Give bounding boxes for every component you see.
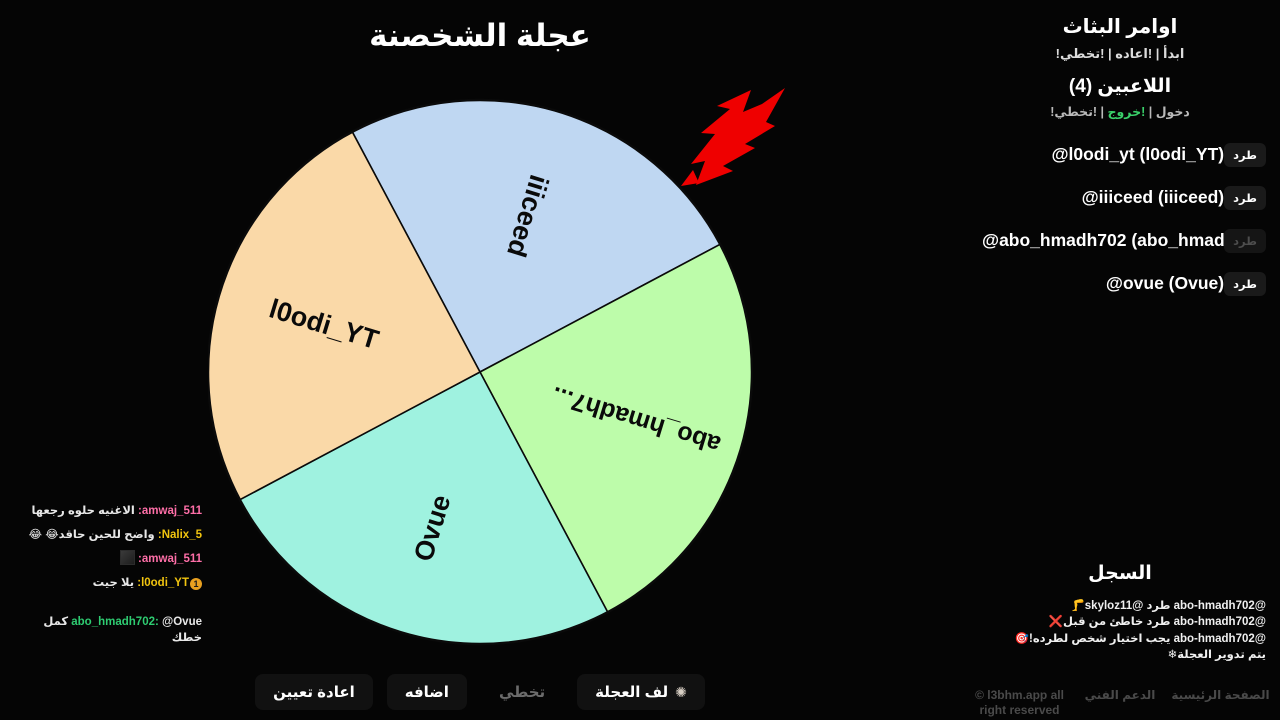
kick-player-button[interactable]: طرد (1224, 272, 1266, 296)
log-entry-icon: ❄ (1168, 647, 1178, 663)
player-row: طرد@abo_hmadh702 (abo_hmadh...) (974, 219, 1266, 262)
chat-message: Nalix_5: واضح للحين حاقد😂 😂 (12, 527, 202, 544)
kick-player-button[interactable]: طرد (1224, 229, 1266, 253)
chat-message: amwaj_511: الاغنيه حلوه رجعها (12, 503, 202, 520)
red-zigzag-arrow-icon (663, 82, 793, 192)
chat-message: abo_hmadh702: @Ovue كمل خطك (12, 614, 202, 647)
footer-support-link[interactable]: الدعم الفني (1071, 688, 1170, 703)
app-root: عجلة الشخصنة iiiceedabo_hmadh7...Ovuel0o… (0, 0, 1280, 720)
chat-message: amwaj_511: (12, 550, 202, 568)
add-button-label: اضافه (405, 683, 449, 701)
player-commands-list: !دخول | !خروج | !تخطي (974, 104, 1266, 119)
add-button[interactable]: اضافه (387, 674, 467, 710)
spin-button[interactable]: ✺لف العجلة (577, 674, 705, 710)
broadcaster-commands-title: اوامر البثاث (974, 14, 1266, 39)
chat-text: الاغنيه حلوه رجعها (31, 505, 134, 517)
chat-badge-icon: 1 (190, 578, 202, 590)
player-name: @iiiceed (iiiceed) (974, 187, 1224, 208)
gear-icon: ✺ (675, 684, 687, 701)
chat-username[interactable]: amwaj_511: (135, 553, 202, 565)
broadcaster-commands-list: !ابدأ | !اعاده | !تخطي (974, 46, 1266, 62)
log-entry-text: @abo-hmadh702 طرد خاطئ من قبل (1063, 616, 1266, 628)
player-row: طرد@iiiceed (iiiceed) (974, 176, 1266, 219)
footer: الصفحة الرئيسية الدعم الفني © l3bhm.app … (970, 688, 1270, 718)
log-entry: @abo-hmadh702 يجب اختيار شخص لطرده!🎯 (974, 631, 1266, 647)
player-name: @ovue (Ovue) (974, 273, 1224, 294)
reset-button-label: اعادة تعيين (273, 683, 355, 701)
wheel-stage[interactable]: iiiceedabo_hmadh7...Ovuel0odi_YT (208, 90, 753, 655)
log-entry-text: @abo-hmadh702 يجب اختيار شخص لطرده! (1029, 633, 1266, 645)
player-list: طرد@l0odi_yt (l0odi_YT)طرد@iiiceed (iiic… (974, 133, 1266, 305)
log-entry-text: يتم تدوير العجلة (1177, 649, 1266, 661)
leave-command: !خروج (1108, 105, 1146, 119)
log-entry: يتم تدوير العجلة❄ (974, 647, 1266, 663)
player-row: طرد@l0odi_yt (l0odi_YT) (974, 133, 1266, 176)
players-count-title: اللاعبين (4) (974, 75, 1266, 98)
log-entry: @abo-hmadh702 طرد خاطئ من قبل❌ (974, 614, 1266, 630)
log-entry-icon: 🎯 (1015, 631, 1029, 647)
skip-button-label: تخطي (499, 683, 545, 701)
player-name: @abo_hmadh702 (abo_hmadh...) (974, 230, 1224, 251)
chat-text: يلا جيت (93, 577, 134, 589)
player-row: طرد@ovue (Ovue) (974, 262, 1266, 305)
chat-text: واضح للحين حاقد😂 😂 (29, 529, 155, 541)
skip-button[interactable]: تخطي (481, 674, 563, 710)
kick-player-button[interactable]: طرد (1224, 143, 1266, 167)
log-entry: @abo-hmadh702 طرد @skyloz11🦵 (974, 598, 1266, 614)
right-panel: اوامر البثاث !ابدأ | !اعاده | !تخطي اللا… (960, 0, 1280, 720)
footer-copyright: © l3bhm.app all right reserved (970, 688, 1069, 718)
log-entry-icon: ❌ (1049, 614, 1063, 630)
chat-image-thumbnail (120, 550, 135, 565)
chat-username[interactable]: amwaj_511: (135, 505, 202, 517)
player-name: @l0odi_yt (l0odi_YT) (974, 144, 1224, 165)
log-list: @abo-hmadh702 طرد @skyloz11🦵@abo-hmadh70… (974, 598, 1266, 664)
chat-username[interactable]: Nalix_5: (155, 529, 202, 541)
page-title: عجلة الشخصنة (0, 18, 960, 54)
log-entry-icon: 🦵 (1070, 598, 1084, 614)
footer-home-link[interactable]: الصفحة الرئيسية (1171, 688, 1270, 703)
spin-button-label: لف العجلة (595, 683, 668, 701)
skip-command: | !تخطي (1054, 105, 1104, 119)
chat-overlay: amwaj_511: الاغنيه حلوه رجعهاNalix_5: وا… (12, 503, 202, 654)
log-title: السجل (960, 562, 1280, 585)
kick-player-button[interactable]: طرد (1224, 186, 1266, 210)
chat-username[interactable]: l0odi_YT: (134, 577, 189, 589)
chat-message: 1l0odi_YT: يلا جيت (12, 575, 202, 592)
log-entry-text: @abo-hmadh702 طرد @skyloz11 (1085, 600, 1266, 612)
chat-username[interactable]: abo_hmadh702: (71, 616, 162, 628)
wheel-controls: ✺لف العجلةتخطياضافهاعادة تعيين (0, 674, 960, 710)
reset-button[interactable]: اعادة تعيين (255, 674, 373, 710)
